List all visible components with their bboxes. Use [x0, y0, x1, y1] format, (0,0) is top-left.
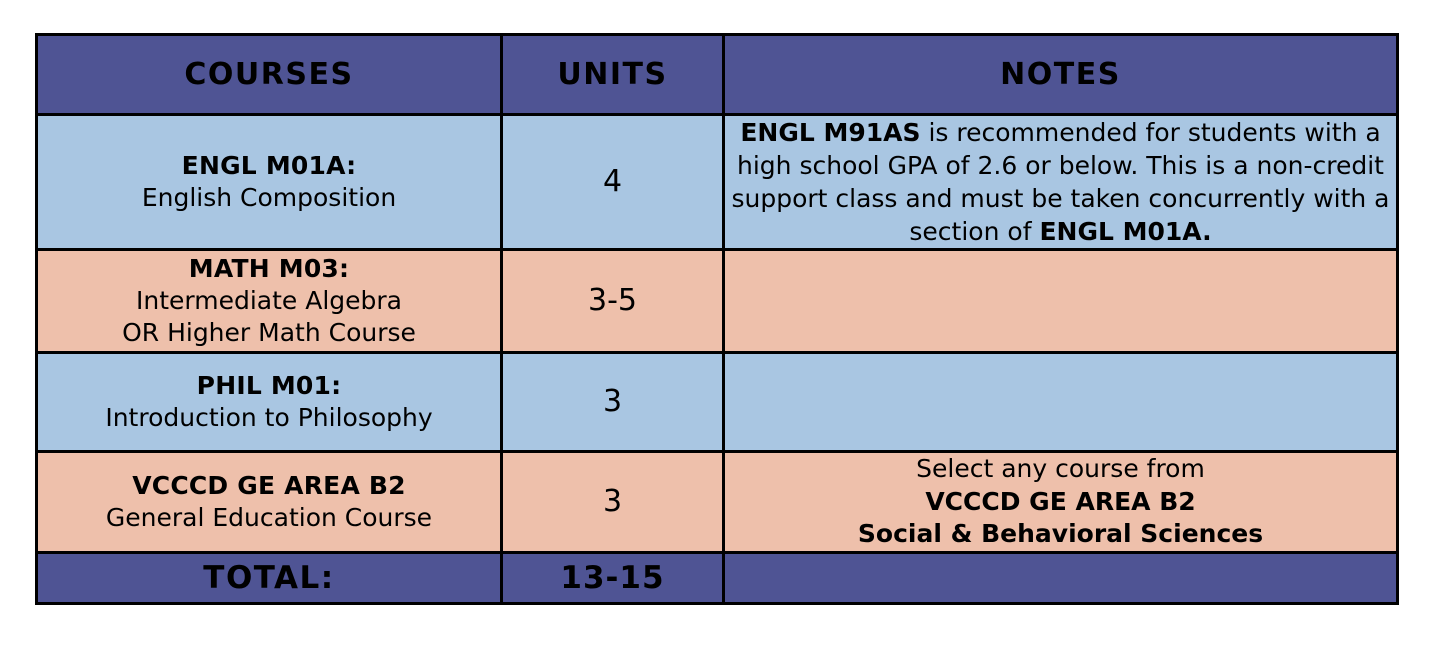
header-row: COURSES UNITS NOTES: [37, 35, 1398, 115]
column-header-notes: NOTES: [724, 35, 1398, 115]
note-line-2: VCCCD GE AREA B2: [725, 486, 1396, 519]
units-cell: 3: [502, 353, 724, 452]
course-requirements-table: COURSES UNITS NOTES ENGL M01A: English C…: [35, 33, 1399, 605]
table-row: MATH M03: Intermediate Algebra OR Higher…: [37, 250, 1398, 353]
course-code: VCCCD GE AREA B2: [38, 470, 500, 502]
course-code: PHIL M01:: [38, 370, 500, 402]
course-cell: PHIL M01: Introduction to Philosophy: [37, 353, 502, 452]
total-label: TOTAL:: [37, 553, 502, 604]
units-cell: 3: [502, 452, 724, 553]
table-body: ENGL M01A: English Composition 4 ENGL M9…: [37, 115, 1398, 604]
table-header: COURSES UNITS NOTES: [37, 35, 1398, 115]
course-name: General Education Course: [38, 502, 500, 534]
units-cell: 4: [502, 115, 724, 250]
note-text: ENGL M91AS is recommended for students w…: [731, 118, 1389, 246]
units-cell: 3-5: [502, 250, 724, 353]
course-code: ENGL M01A:: [38, 150, 500, 182]
course-name-line-1: Intermediate Algebra: [38, 285, 500, 317]
note-line-1: Select any course from: [725, 453, 1396, 486]
note-emphasis-end: ENGL M01A.: [1039, 217, 1211, 246]
table-row: PHIL M01: Introduction to Philosophy 3: [37, 353, 1398, 452]
total-row: TOTAL: 13-15: [37, 553, 1398, 604]
table-row: VCCCD GE AREA B2 General Education Cours…: [37, 452, 1398, 553]
notes-cell: [724, 250, 1398, 353]
column-header-units: UNITS: [502, 35, 724, 115]
course-name: English Composition: [38, 182, 500, 214]
notes-cell: [724, 353, 1398, 452]
course-cell: MATH M03: Intermediate Algebra OR Higher…: [37, 250, 502, 353]
notes-cell: Select any course from VCCCD GE AREA B2 …: [724, 452, 1398, 553]
table-row: ENGL M01A: English Composition 4 ENGL M9…: [37, 115, 1398, 250]
course-name: Introduction to Philosophy: [38, 402, 500, 434]
note-emphasis-start: ENGL M91AS: [740, 118, 920, 147]
notes-cell: ENGL M91AS is recommended for students w…: [724, 115, 1398, 250]
note-line-3: Social & Behavioral Sciences: [725, 518, 1396, 551]
course-code: MATH M03:: [38, 253, 500, 285]
column-header-courses: COURSES: [37, 35, 502, 115]
total-units: 13-15: [502, 553, 724, 604]
course-cell: VCCCD GE AREA B2 General Education Cours…: [37, 452, 502, 553]
course-cell: ENGL M01A: English Composition: [37, 115, 502, 250]
course-name-line-2: OR Higher Math Course: [38, 317, 500, 349]
total-notes: [724, 553, 1398, 604]
